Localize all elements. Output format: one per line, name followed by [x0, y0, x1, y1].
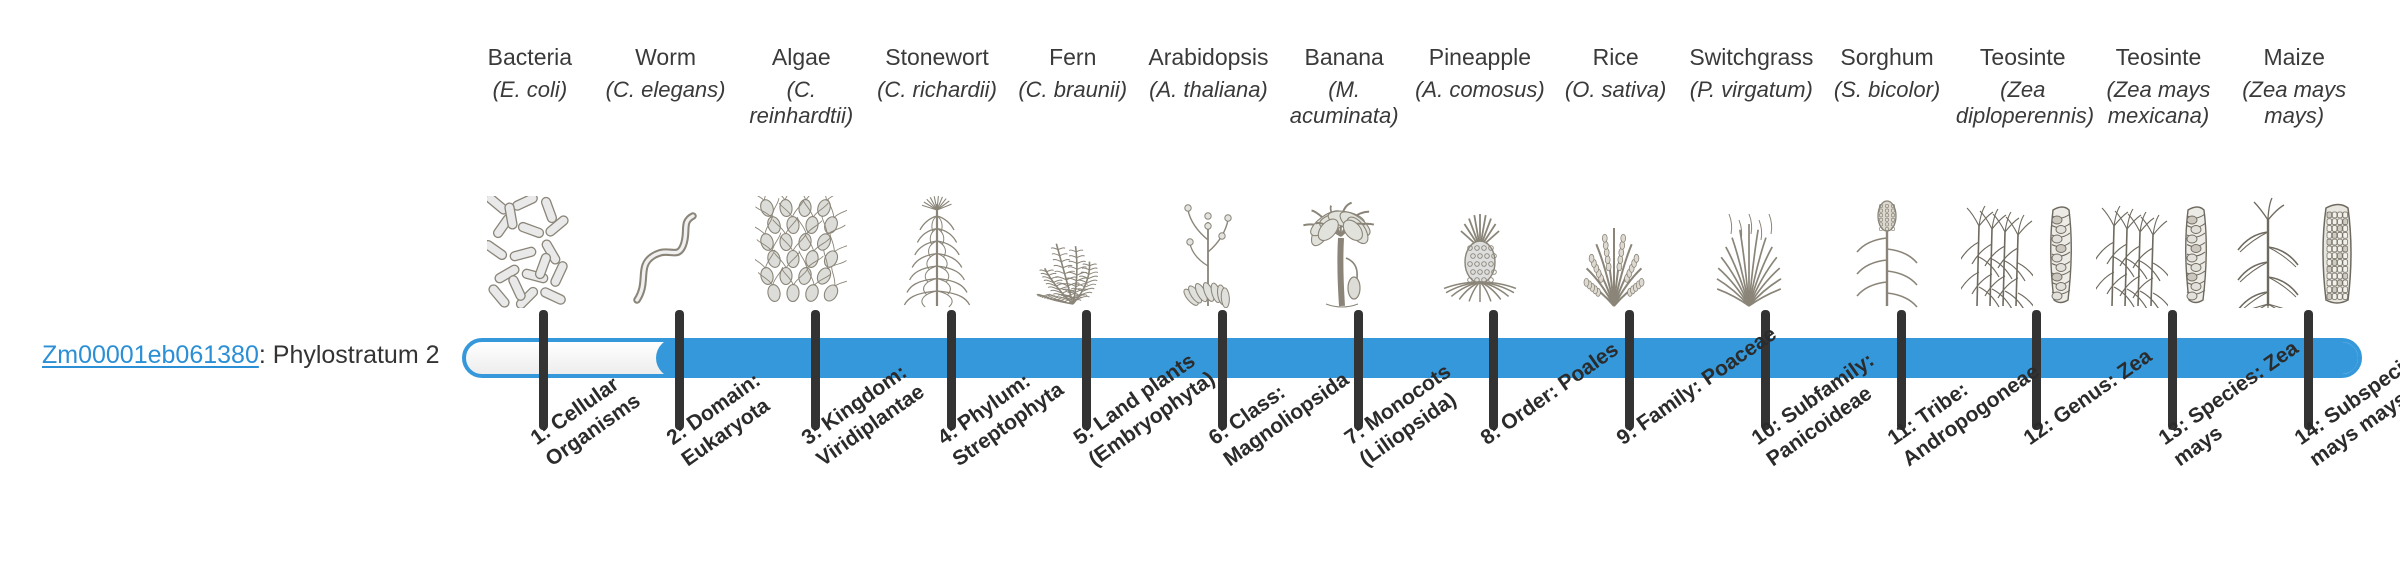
- species-column: Banana(M. acuminata): [1276, 44, 1412, 314]
- maize-plant-cob-icon: [2226, 210, 2362, 308]
- banana-tree-icon: [1276, 210, 1412, 308]
- gene-phylostratum-value: Phylostratum 2: [273, 341, 440, 369]
- species-latin-name: (C. reinhardtii): [733, 77, 869, 129]
- species-common-name: Stonewort: [869, 44, 1005, 71]
- bacteria-rods-icon: [462, 210, 598, 308]
- species-header-strip: Bacteria(E. coli)Worm(C. elegans)Algae(C…: [462, 44, 2362, 314]
- species-header: Algae(C. reinhardtii): [733, 44, 869, 156]
- algae-cells-icon: [733, 210, 869, 308]
- species-header: Teosinte(Zea mays mexicana): [2091, 44, 2227, 156]
- species-header: Rice(O. sativa): [1548, 44, 1684, 156]
- species-latin-name: (S. bicolor): [1819, 77, 1955, 103]
- species-latin-name: (E. coli): [462, 77, 598, 103]
- species-header: Fern(C. braunii): [1005, 44, 1141, 156]
- species-common-name: Fern: [1005, 44, 1141, 71]
- species-common-name: Teosinte: [2091, 44, 2227, 71]
- species-latin-name: (A. comosus): [1412, 77, 1548, 103]
- rice-grass-icon: [1548, 210, 1684, 308]
- nematode-worm-icon: [598, 210, 734, 308]
- phylostratum-tick[interactable]: [539, 310, 548, 430]
- species-column: Switchgrass(P. virgatum): [1683, 44, 1819, 314]
- species-common-name: Bacteria: [462, 44, 598, 71]
- species-header: Bacteria(E. coli): [462, 44, 598, 156]
- species-header: Sorghum(S. bicolor): [1819, 44, 1955, 156]
- fern-frond-icon: [1005, 210, 1141, 308]
- species-common-name: Rice: [1548, 44, 1684, 71]
- species-column: Arabidopsis(A. thaliana): [1141, 44, 1277, 314]
- species-latin-name: (Zea diploperennis): [1955, 77, 2091, 129]
- phylostratum-label-row: 1: Cellular Organisms2: Domain: Eukaryot…: [462, 430, 2362, 580]
- species-header: Maize(Zea mays mays): [2226, 44, 2362, 156]
- species-common-name: Switchgrass: [1683, 44, 1819, 71]
- species-latin-name: (C. richardii): [869, 77, 1005, 103]
- species-common-name: Algae: [733, 44, 869, 71]
- species-column: Maize(Zea mays mays): [2226, 44, 2362, 314]
- sorghum-plant-icon: [1819, 210, 1955, 308]
- species-header: Stonewort(C. richardii): [869, 44, 1005, 156]
- gene-phylostratum-label: Zm00001eb061380: Phylostratum 2: [42, 340, 462, 370]
- species-column: Pineapple(A. comosus): [1412, 44, 1548, 314]
- species-common-name: Sorghum: [1819, 44, 1955, 71]
- species-latin-name: (M. acuminata): [1276, 77, 1412, 129]
- species-column: Teosinte(Zea diploperennis): [1955, 44, 2091, 314]
- species-column: Rice(O. sativa): [1548, 44, 1684, 314]
- species-latin-name: (C. elegans): [598, 77, 734, 103]
- species-latin-name: (P. virgatum): [1683, 77, 1819, 103]
- species-header: Worm(C. elegans): [598, 44, 734, 156]
- species-column: Fern(C. braunii): [1005, 44, 1141, 314]
- stonewort-plant-icon: [869, 210, 1005, 308]
- phylostratum-figure: Zm00001eb061380: Phylostratum 2 Bacteria…: [0, 0, 2400, 580]
- species-common-name: Teosinte: [1955, 44, 2091, 71]
- species-common-name: Arabidopsis: [1141, 44, 1277, 71]
- species-header: Teosinte(Zea diploperennis): [1955, 44, 2091, 156]
- species-latin-name: (O. sativa): [1548, 77, 1684, 103]
- gene-label-separator: :: [259, 341, 273, 369]
- species-latin-name: (A. thaliana): [1141, 77, 1277, 103]
- teosinte-plant-ear-icon: [2091, 210, 2227, 308]
- arabidopsis-plant-icon: [1141, 210, 1277, 308]
- teosinte-plant-ear-icon: [1955, 210, 2091, 308]
- species-header: Banana(M. acuminata): [1276, 44, 1412, 156]
- species-column: Stonewort(C. richardii): [869, 44, 1005, 314]
- species-latin-name: (Zea mays mexicana): [2091, 77, 2227, 129]
- pineapple-plant-icon: [1412, 210, 1548, 308]
- species-common-name: Maize: [2226, 44, 2362, 71]
- species-column: Bacteria(E. coli): [462, 44, 598, 314]
- species-column: Worm(C. elegans): [598, 44, 734, 314]
- species-latin-name: (Zea mays mays): [2226, 77, 2362, 129]
- species-common-name: Worm: [598, 44, 734, 71]
- species-common-name: Banana: [1276, 44, 1412, 71]
- species-column: Sorghum(S. bicolor): [1819, 44, 1955, 314]
- species-column: Algae(C. reinhardtii): [733, 44, 869, 314]
- switchgrass-icon: [1683, 210, 1819, 308]
- species-common-name: Pineapple: [1412, 44, 1548, 71]
- gene-id-link[interactable]: Zm00001eb061380: [42, 341, 259, 369]
- species-latin-name: (C. braunii): [1005, 77, 1141, 103]
- species-header: Arabidopsis(A. thaliana): [1141, 44, 1277, 156]
- species-header: Pineapple(A. comosus): [1412, 44, 1548, 156]
- species-header: Switchgrass(P. virgatum): [1683, 44, 1819, 156]
- species-column: Teosinte(Zea mays mexicana): [2091, 44, 2227, 314]
